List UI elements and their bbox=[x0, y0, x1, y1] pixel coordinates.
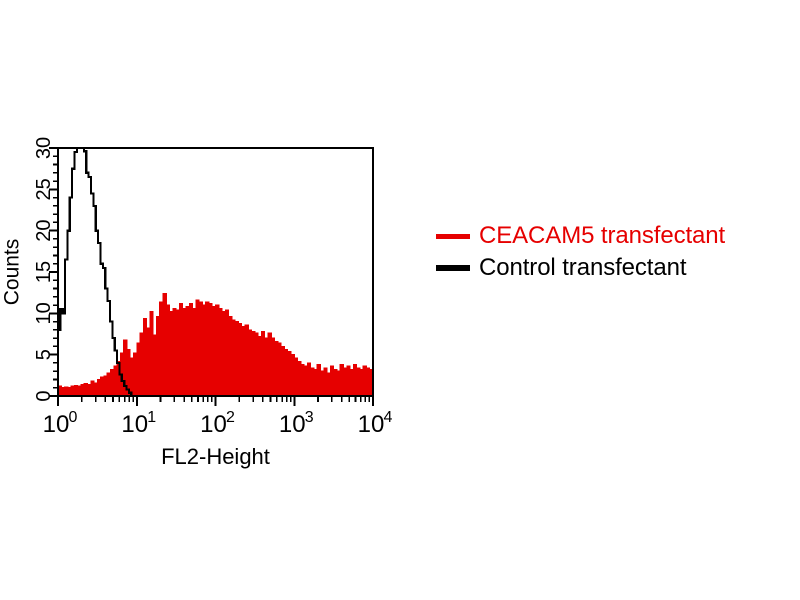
x-tick-label: 103 bbox=[279, 409, 314, 438]
svg-text:10: 10 bbox=[279, 411, 306, 438]
x-tick-label: 104 bbox=[358, 409, 393, 438]
x-tick-label: 100 bbox=[43, 409, 78, 438]
y-axis-title: Counts bbox=[1, 239, 24, 306]
svg-text:2: 2 bbox=[226, 409, 235, 426]
legend-swatch-control bbox=[436, 265, 470, 271]
y-tick-label: 20 bbox=[33, 220, 55, 242]
x-axis-title: FL2-Height bbox=[161, 444, 270, 469]
y-tick-label: 15 bbox=[33, 261, 55, 283]
histogram-svg: 051015202530Counts100101102103104FL2-Hei… bbox=[0, 120, 400, 470]
y-tick-label: 10 bbox=[33, 302, 55, 324]
svg-text:3: 3 bbox=[305, 409, 314, 426]
legend-item-ceacam5: CEACAM5 transfectant bbox=[436, 220, 800, 252]
svg-text:10: 10 bbox=[121, 411, 148, 438]
flow-cytometry-figure: 051015202530Counts100101102103104FL2-Hei… bbox=[0, 0, 800, 600]
svg-text:10: 10 bbox=[200, 411, 227, 438]
legend-swatch-ceacam5 bbox=[436, 234, 470, 239]
svg-text:10: 10 bbox=[358, 411, 385, 438]
svg-text:10: 10 bbox=[43, 411, 70, 438]
x-tick-label: 102 bbox=[200, 409, 235, 438]
legend-label-control: Control transfectant bbox=[479, 255, 686, 281]
histogram-plot: 051015202530Counts100101102103104FL2-Hei… bbox=[0, 120, 400, 470]
y-tick-label: 0 bbox=[33, 390, 55, 401]
legend-item-control: Control transfectant bbox=[436, 252, 800, 284]
chart-legend: CEACAM5 transfectant Control transfectan… bbox=[436, 220, 800, 284]
svg-text:1: 1 bbox=[147, 409, 156, 426]
y-tick-label: 5 bbox=[33, 349, 55, 360]
svg-text:0: 0 bbox=[69, 409, 78, 426]
x-tick-label: 101 bbox=[121, 409, 156, 438]
y-tick-label: 30 bbox=[33, 137, 55, 159]
legend-label-ceacam5: CEACAM5 transfectant bbox=[479, 223, 725, 249]
y-tick-label: 25 bbox=[33, 178, 55, 200]
svg-text:4: 4 bbox=[384, 409, 393, 426]
